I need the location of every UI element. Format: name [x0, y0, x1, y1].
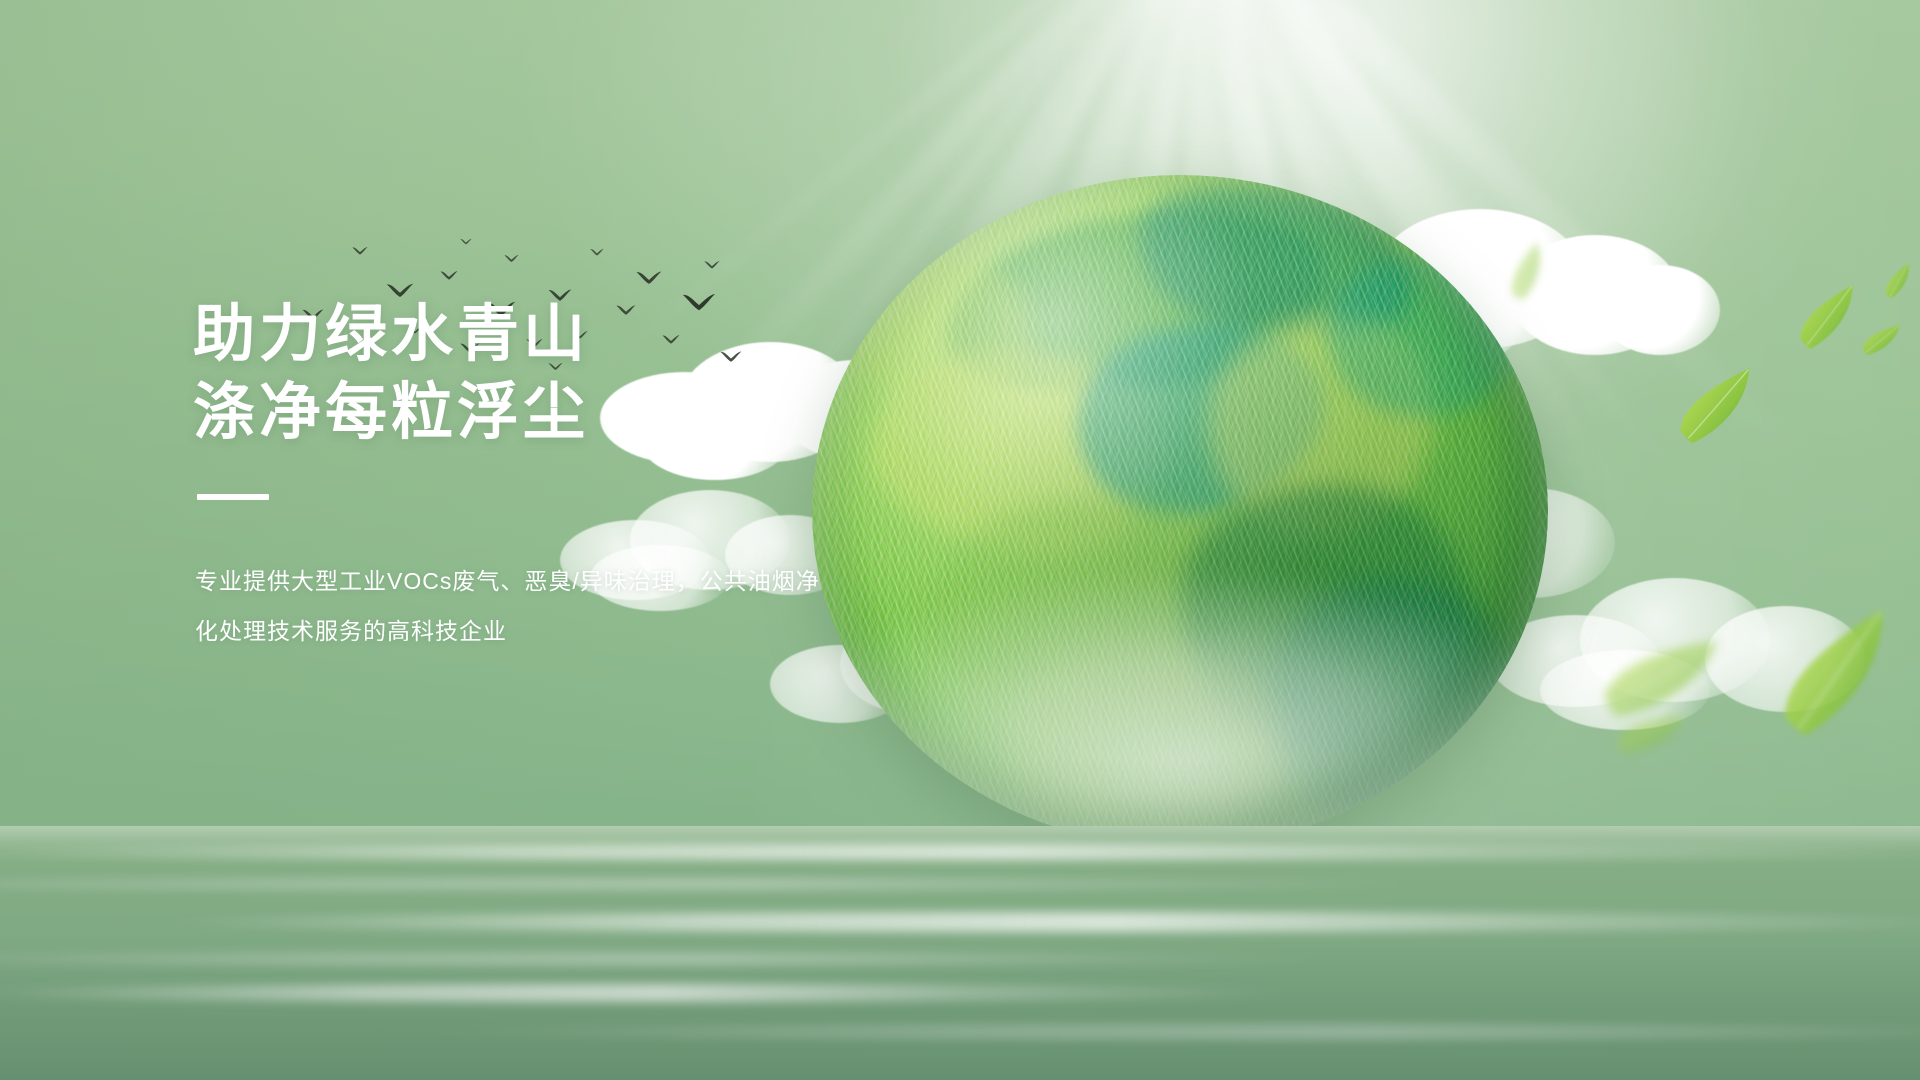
headline-line-2: 涤净每粒浮尘: [193, 374, 953, 452]
water-ripple: [0, 844, 1920, 860]
subtitle-line-1: 专业提供大型工业VOCs废气、恶臭/异味治理，公共油烟净: [195, 568, 820, 594]
bird-icon: [504, 254, 519, 263]
bird-icon: [704, 260, 720, 270]
bird-icon: [590, 248, 604, 257]
bird-icon: [440, 270, 458, 281]
subtitle-line-2: 化处理技术服务的高科技企业: [195, 618, 507, 644]
banner-copy: 助力绿水青山 涤净每粒浮尘 专业提供大型工业VOCs废气、恶臭/异味治理，公共油…: [193, 296, 953, 656]
water-surface: [0, 826, 1920, 1080]
bird-icon: [460, 238, 472, 245]
hero-banner: 助力绿水青山 涤净每粒浮尘 专业提供大型工业VOCs废气、恶臭/异味治理，公共油…: [0, 0, 1920, 1080]
bird-icon: [636, 270, 662, 286]
headline-line-1: 助力绿水青山: [193, 296, 953, 374]
water-ripple: [0, 878, 1459, 890]
headline-divider: [197, 494, 269, 500]
subtitle: 专业提供大型工业VOCs废气、恶臭/异味治理，公共油烟净 化处理技术服务的高科技…: [195, 556, 855, 656]
water-ripple: [154, 912, 1920, 932]
bird-icon: [352, 246, 368, 256]
water-depth-shade: [0, 933, 1920, 1080]
